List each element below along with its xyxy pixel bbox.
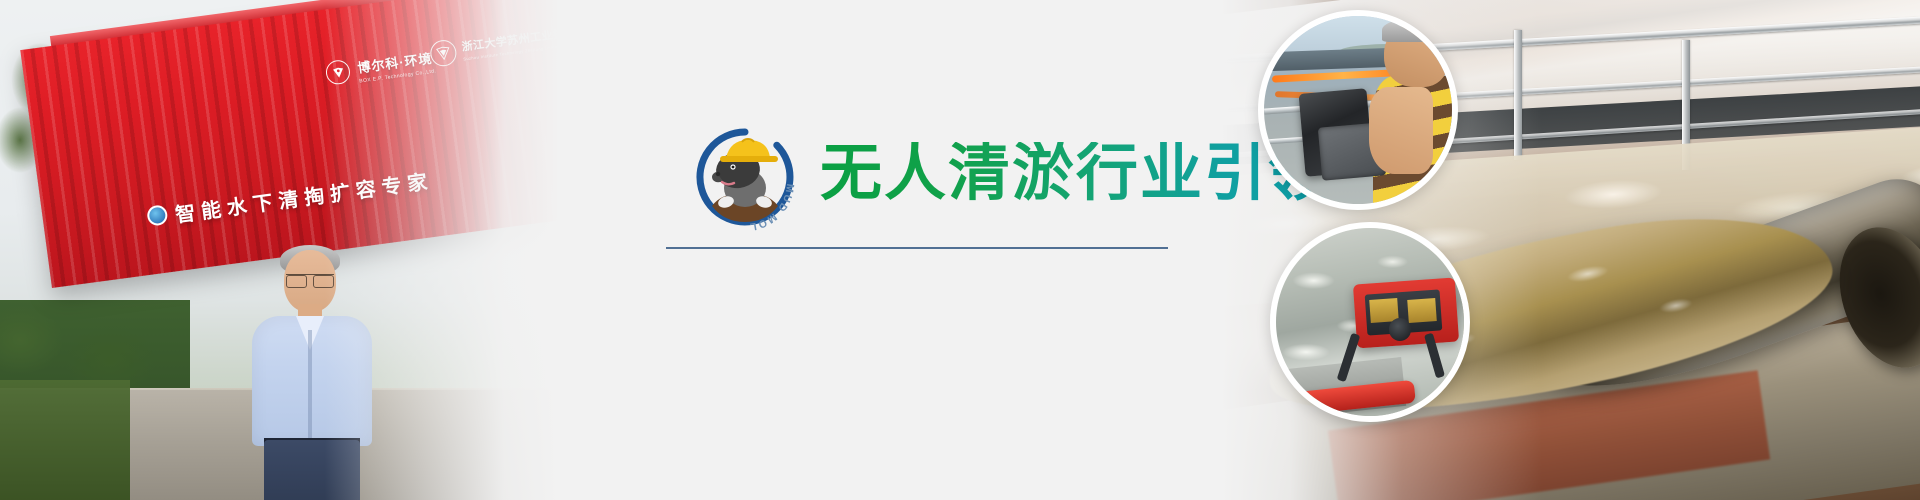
- robot-module: [1407, 298, 1437, 322]
- shirt-placket: [308, 330, 312, 442]
- rail-post: [1514, 30, 1522, 160]
- red-dredging-robot-photo: [1270, 222, 1470, 422]
- hero-banner: 博尔科·环境 BOX E.P. Technology Co.,Ltd. 浙江大学…: [0, 0, 1920, 500]
- engineer-person: [250, 250, 380, 500]
- red-container-with-engineer-photo: 博尔科·环境 BOX E.P. Technology Co.,Ltd. 浙江大学…: [0, 0, 560, 500]
- center-content: MUD MOLE 无人清淤行业引领者: [660, 0, 1280, 500]
- grass-verge: [0, 380, 130, 500]
- glasses-icon: [286, 274, 334, 285]
- headline-divider: [666, 247, 1168, 249]
- operator-cap: [1382, 18, 1450, 42]
- mud-mole-logo: MUD MOLE: [690, 122, 800, 232]
- operator-arm: [1369, 87, 1433, 173]
- trousers: [264, 440, 360, 500]
- robot-wheel: [1389, 318, 1412, 341]
- operator-with-remote-control-photo: [1258, 10, 1458, 210]
